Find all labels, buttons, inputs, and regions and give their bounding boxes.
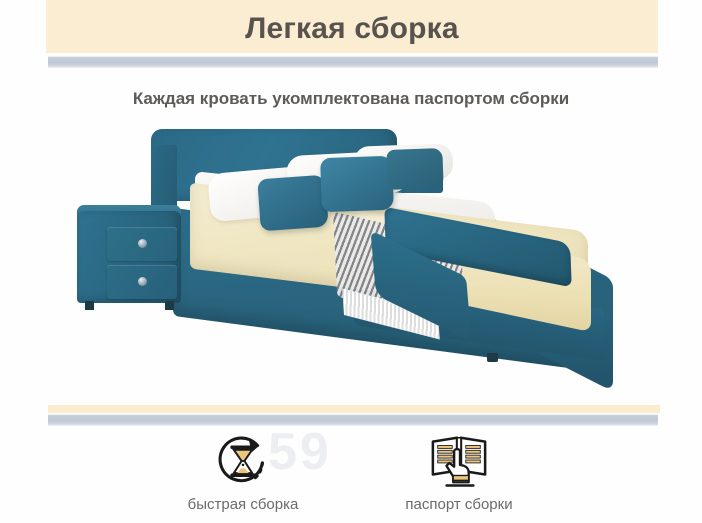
feature-label: паспорт сборки [405, 496, 512, 513]
bottom-cream-bar [48, 405, 660, 413]
nightstand-leg [85, 301, 94, 310]
nightstand-leg [165, 301, 174, 310]
page-title: Легкая сборка [46, 9, 658, 49]
teal-cushion [386, 148, 443, 190]
bed-leg [487, 353, 498, 362]
feature-fast-assembly: быстрая сборка [158, 430, 328, 513]
open-book-hand-icon [428, 430, 490, 490]
feature-badges: быстрая сборка [0, 430, 702, 520]
feature-label: быстрая сборка [188, 496, 299, 513]
hourglass-rotate-icon [212, 430, 274, 490]
teal-cushion [320, 156, 394, 212]
top-divider-rule [48, 56, 658, 68]
subtitle-text: Каждая кровать укомплектована паспортом … [0, 89, 702, 109]
product-photo-bed [55, 115, 655, 395]
nightstand-knob [138, 277, 147, 286]
teal-cushion [257, 175, 328, 232]
nightstand-knob [138, 239, 147, 248]
feature-assembly-passport: паспорт сборки [374, 430, 544, 513]
